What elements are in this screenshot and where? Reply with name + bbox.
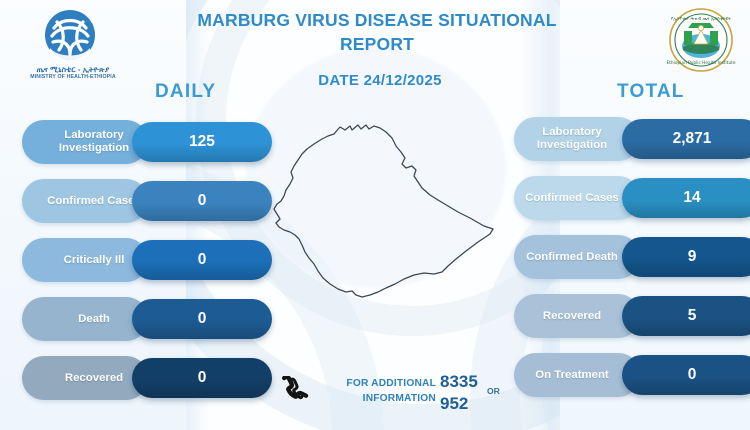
daily-label-3: Death (22, 297, 148, 341)
contact-info: FOR ADDITIONAL INFORMATION 8335 952 OR (282, 370, 512, 418)
total-value-2: 9 (622, 237, 750, 277)
contact-line-2: INFORMATION (363, 393, 436, 404)
total-value-0: 2,871 (622, 119, 750, 159)
daily-label-1: Confirmed Cases (22, 179, 148, 223)
daily-value-0: 125 (132, 122, 272, 162)
contact-line-1: FOR ADDITIONAL (346, 378, 436, 389)
daily-label-4: Recovered (22, 356, 148, 400)
ephi-seal-icon: የኢትዮጵያ ሕዝብ ጤና ኢንስቲትዩት Ethiopian Public H… (664, 6, 738, 74)
svg-text:Ethiopian Public Health Instit: Ethiopian Public Health Institute (667, 60, 736, 66)
hotline-separator: OR (487, 386, 500, 396)
ephi-logo: የኢትዮጵያ ሕዝብ ጤና ኢንስቲትዩት Ethiopian Public H… (664, 6, 738, 74)
contact-label: FOR ADDITIONAL INFORMATION (318, 377, 436, 407)
page-title: MARBURG VIRUS DISEASE SITUATIONAL REPORT (182, 8, 572, 56)
total-value-4: 0 (622, 355, 750, 395)
hotline-number-primary: 8335 (440, 372, 478, 392)
infographic-canvas: ጤና ሚኒስቴር - ኢትዮጵያ MINISTRY OF HEALTH-ETHI… (0, 0, 750, 430)
daily-label-0: Laboratory Investigation (22, 120, 148, 164)
daily-column-heading: DAILY (155, 81, 216, 103)
ministry-of-health-knot-icon (40, 8, 100, 66)
phone-icon (282, 376, 312, 408)
ministry-of-health-caption: ጤና ሚኒስቴር - ኢትዮጵያ MINISTRY OF HEALTH-ETHI… (18, 66, 128, 80)
daily-label-2: Critically Ill (22, 238, 148, 282)
moh-english-text: MINISTRY OF HEALTH-ETHIOPIA (18, 75, 128, 81)
total-value-3: 5 (622, 296, 750, 336)
daily-value-4: 0 (132, 358, 272, 398)
ethiopia-outline-map (262, 96, 520, 322)
daily-value-1: 0 (132, 181, 272, 221)
ministry-of-health-logo: ጤና ሚኒስቴር - ኢትዮጵያ MINISTRY OF HEALTH-ETHI… (18, 8, 128, 86)
svg-text:የኢትዮጵያ ሕዝብ ጤና ኢንስቲትዩት: የኢትዮጵያ ሕዝብ ጤና ኢንስቲትዩት (671, 16, 732, 22)
daily-value-3: 0 (132, 299, 272, 339)
hotline-number-secondary: 952 (440, 394, 468, 414)
report-date: DATE 24/12/2025 (255, 72, 505, 89)
total-value-1: 14 (622, 178, 750, 218)
daily-value-2: 0 (132, 240, 272, 280)
total-column-heading: TOTAL (617, 81, 685, 103)
